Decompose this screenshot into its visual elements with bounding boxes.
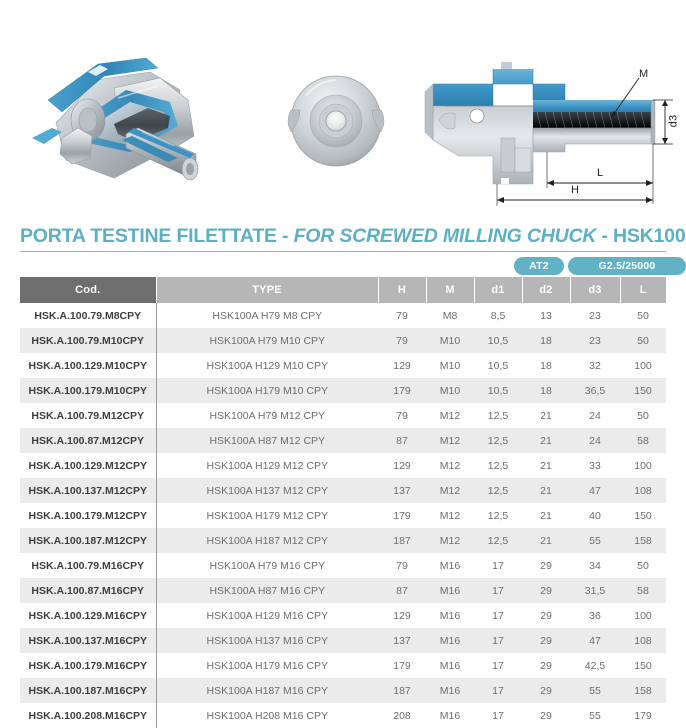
cell-d2: 29 <box>522 678 570 703</box>
cell-type: HSK100A H179 M10 CPY <box>156 378 378 403</box>
title-part-italian: PORTA TESTINE FILETTATE <box>20 225 277 247</box>
badge-at2: AT2 <box>514 257 564 275</box>
cell-d3: 42,5 <box>570 653 620 678</box>
cell-type: HSK100A H179 M16 CPY <box>156 653 378 678</box>
table-row[interactable]: HSK.A.100.79.M12CPYHSK100A H79 M12 CPY79… <box>20 403 666 428</box>
cell-d1: 17 <box>474 653 522 678</box>
cell-type: HSK100A H129 M16 CPY <box>156 603 378 628</box>
cell-d1: 10,5 <box>474 353 522 378</box>
cell-h: 129 <box>378 353 426 378</box>
cell-d2: 29 <box>522 628 570 653</box>
isometric-cutaway-drawing <box>18 28 248 213</box>
cell-d3: 40 <box>570 503 620 528</box>
cell-m: M16 <box>426 578 474 603</box>
cell-cod: HSK.A.100.179.M16CPY <box>20 653 156 678</box>
cell-type: HSK100A H87 M16 CPY <box>156 578 378 603</box>
cell-cod: HSK.A.100.208.M16CPY <box>20 703 156 728</box>
cell-m: M16 <box>426 653 474 678</box>
cell-cod: HSK.A.100.129.M12CPY <box>20 453 156 478</box>
cell-h: 179 <box>378 653 426 678</box>
cell-d2: 29 <box>522 578 570 603</box>
cell-d2: 29 <box>522 653 570 678</box>
table-row[interactable]: HSK.A.100.79.M16CPYHSK100A H79 M16 CPY79… <box>20 553 666 578</box>
table-row[interactable]: HSK.A.100.187.M16CPYHSK100A H187 M16 CPY… <box>20 678 666 703</box>
cell-d2: 21 <box>522 428 570 453</box>
cell-h: 79 <box>378 553 426 578</box>
cell-d1: 12,5 <box>474 528 522 553</box>
specification-table-wrapper: Cod. TYPE H M d1 d2 d3 L HSK.A.100.79.M8… <box>20 277 666 728</box>
cell-d1: 17 <box>474 603 522 628</box>
cell-d2: 21 <box>522 478 570 503</box>
cell-type: HSK100A H79 M8 CPY <box>156 303 378 328</box>
dimension-label-d3: d3 <box>667 115 679 128</box>
cell-type: HSK100A H137 M12 CPY <box>156 478 378 503</box>
cell-m: M12 <box>426 403 474 428</box>
cell-h: 179 <box>378 503 426 528</box>
table-row[interactable]: HSK.A.100.137.M16CPYHSK100A H137 M16 CPY… <box>20 628 666 653</box>
cell-cod: HSK.A.100.179.M12CPY <box>20 503 156 528</box>
cell-m: M10 <box>426 378 474 403</box>
cell-l: 179 <box>620 703 666 728</box>
cell-h: 137 <box>378 478 426 503</box>
cell-h: 79 <box>378 328 426 353</box>
cell-cod: HSK.A.100.79.M12CPY <box>20 403 156 428</box>
cell-d1: 17 <box>474 553 522 578</box>
cell-d3: 55 <box>570 528 620 553</box>
cell-cod: HSK.A.100.129.M16CPY <box>20 603 156 628</box>
cell-type: HSK100A H137 M16 CPY <box>156 628 378 653</box>
cell-h: 87 <box>378 578 426 603</box>
cell-d1: 17 <box>474 703 522 728</box>
column-header-d3: d3 <box>570 277 620 303</box>
cell-d1: 17 <box>474 578 522 603</box>
cell-l: 150 <box>620 653 666 678</box>
cell-d3: 55 <box>570 703 620 728</box>
column-header-type: TYPE <box>156 277 378 303</box>
cell-cod: HSK.A.100.187.M16CPY <box>20 678 156 703</box>
cell-d3: 47 <box>570 478 620 503</box>
spec-badges: AT2 G2.5/25000 <box>20 257 666 275</box>
cell-m: M12 <box>426 428 474 453</box>
column-header-h: H <box>378 277 426 303</box>
section-view-drawing: M d3 L H <box>415 28 686 218</box>
column-header-d1: d1 <box>474 277 522 303</box>
cell-type: HSK100A H129 M10 CPY <box>156 353 378 378</box>
cell-d1: 17 <box>474 628 522 653</box>
cell-d3: 36 <box>570 603 620 628</box>
cell-m: M16 <box>426 678 474 703</box>
cell-l: 158 <box>620 678 666 703</box>
table-row[interactable]: HSK.A.100.87.M16CPYHSK100A H87 M16 CPY87… <box>20 578 666 603</box>
cell-d1: 12,5 <box>474 453 522 478</box>
cell-cod: HSK.A.100.187.M12CPY <box>20 528 156 553</box>
cell-type: HSK100A H79 M10 CPY <box>156 328 378 353</box>
cell-d2: 21 <box>522 528 570 553</box>
cell-d2: 18 <box>522 378 570 403</box>
column-header-m: M <box>426 277 474 303</box>
cell-cod: HSK.A.100.87.M12CPY <box>20 428 156 453</box>
cell-cod: HSK.A.100.79.M16CPY <box>20 553 156 578</box>
table-body: HSK.A.100.79.M8CPYHSK100A H79 M8 CPY79M8… <box>20 303 666 728</box>
cell-l: 50 <box>620 303 666 328</box>
title-separator-1: - <box>277 225 294 247</box>
cell-m: M12 <box>426 453 474 478</box>
cell-d3: 24 <box>570 428 620 453</box>
cell-m: M16 <box>426 703 474 728</box>
cell-cod: HSK.A.100.137.M12CPY <box>20 478 156 503</box>
column-header-d2: d2 <box>522 277 570 303</box>
page-title: PORTA TESTINE FILETTATE - FOR SCREWED MI… <box>20 226 666 247</box>
cell-cod: HSK.A.100.87.M16CPY <box>20 578 156 603</box>
cell-d2: 29 <box>522 603 570 628</box>
cell-d2: 18 <box>522 353 570 378</box>
table-row[interactable]: HSK.A.100.79.M10CPYHSK100A H79 M10 CPY79… <box>20 328 666 353</box>
cell-d1: 17 <box>474 678 522 703</box>
cell-d3: 47 <box>570 628 620 653</box>
table-row[interactable]: HSK.A.100.87.M12CPYHSK100A H87 M12 CPY87… <box>20 428 666 453</box>
cell-m: M16 <box>426 628 474 653</box>
cell-d2: 13 <box>522 303 570 328</box>
section-title-block: PORTA TESTINE FILETTATE - FOR SCREWED MI… <box>20 226 666 252</box>
cell-d2: 21 <box>522 403 570 428</box>
cell-d1: 12,5 <box>474 503 522 528</box>
cell-l: 50 <box>620 328 666 353</box>
cell-h: 129 <box>378 603 426 628</box>
table-row[interactable]: HSK.A.100.208.M16CPYHSK100A H208 M16 CPY… <box>20 703 666 728</box>
cell-d1: 10,5 <box>474 378 522 403</box>
cell-h: 187 <box>378 528 426 553</box>
badge-balance-grade: G2.5/25000 <box>568 257 686 275</box>
column-header-l: L <box>620 277 666 303</box>
cell-d1: 12,5 <box>474 403 522 428</box>
cell-m: M10 <box>426 353 474 378</box>
cell-d2: 21 <box>522 453 570 478</box>
cell-d3: 32 <box>570 353 620 378</box>
cell-type: HSK100A H79 M16 CPY <box>156 553 378 578</box>
cell-d3: 33 <box>570 453 620 478</box>
cell-d3: 31,5 <box>570 578 620 603</box>
cell-d3: 23 <box>570 303 620 328</box>
cell-m: M10 <box>426 328 474 353</box>
cell-h: 129 <box>378 453 426 478</box>
table-row[interactable]: HSK.A.100.79.M8CPYHSK100A H79 M8 CPY79M8… <box>20 303 666 328</box>
cell-h: 79 <box>378 403 426 428</box>
dimension-label-m: M <box>639 68 648 80</box>
cell-l: 108 <box>620 628 666 653</box>
cell-d3: 24 <box>570 403 620 428</box>
cell-l: 150 <box>620 378 666 403</box>
cell-m: M12 <box>426 528 474 553</box>
table-row[interactable]: HSK.A.100.187.M12CPYHSK100A H187 M12 CPY… <box>20 528 666 553</box>
table-row[interactable]: HSK.A.100.137.M12CPYHSK100A H137 M12 CPY… <box>20 478 666 503</box>
cell-m: M16 <box>426 603 474 628</box>
cell-d2: 29 <box>522 553 570 578</box>
cell-cod: HSK.A.100.179.M10CPY <box>20 378 156 403</box>
cell-l: 100 <box>620 453 666 478</box>
cell-type: HSK100A H79 M12 CPY <box>156 403 378 428</box>
dimension-label-h: H <box>571 184 579 196</box>
title-part-model: HSK100A <box>613 225 686 247</box>
cell-d2: 29 <box>522 703 570 728</box>
table-row[interactable]: HSK.A.100.179.M12CPYHSK100A H179 M12 CPY… <box>20 503 666 528</box>
cell-d3: 36,5 <box>570 378 620 403</box>
cell-cod: HSK.A.100.79.M10CPY <box>20 328 156 353</box>
cell-d3: 23 <box>570 328 620 353</box>
cell-h: 87 <box>378 428 426 453</box>
table-row[interactable]: HSK.A.100.179.M16CPYHSK100A H179 M16 CPY… <box>20 653 666 678</box>
cell-m: M12 <box>426 478 474 503</box>
cell-cod: HSK.A.100.129.M10CPY <box>20 353 156 378</box>
cell-d1: 12,5 <box>474 428 522 453</box>
cell-l: 50 <box>620 403 666 428</box>
cell-h: 187 <box>378 678 426 703</box>
cell-l: 108 <box>620 478 666 503</box>
cell-l: 100 <box>620 603 666 628</box>
title-separator-2: - <box>596 225 613 247</box>
column-header-cod: Cod. <box>20 277 156 303</box>
cell-l: 158 <box>620 528 666 553</box>
cell-d1: 10,5 <box>474 328 522 353</box>
title-underline-rule <box>20 251 666 252</box>
cell-type: HSK100A H187 M16 CPY <box>156 678 378 703</box>
cell-h: 179 <box>378 378 426 403</box>
cell-d3: 34 <box>570 553 620 578</box>
cell-d2: 18 <box>522 328 570 353</box>
cell-l: 100 <box>620 353 666 378</box>
cell-m: M8 <box>426 303 474 328</box>
cell-h: 208 <box>378 703 426 728</box>
dimension-label-l: L <box>597 167 603 179</box>
cell-cod: HSK.A.100.79.M8CPY <box>20 303 156 328</box>
cell-l: 150 <box>620 503 666 528</box>
cell-m: M12 <box>426 503 474 528</box>
table-row[interactable]: HSK.A.100.129.M10CPYHSK100A H129 M10 CPY… <box>20 353 666 378</box>
cell-cod: HSK.A.100.137.M16CPY <box>20 628 156 653</box>
specification-table: Cod. TYPE H M d1 d2 d3 L HSK.A.100.79.M8… <box>20 277 666 728</box>
cell-type: HSK100A H87 M12 CPY <box>156 428 378 453</box>
cell-type: HSK100A H187 M12 CPY <box>156 528 378 553</box>
cell-d1: 8,5 <box>474 303 522 328</box>
cell-type: HSK100A H129 M12 CPY <box>156 453 378 478</box>
cell-m: M16 <box>426 553 474 578</box>
cell-type: HSK100A H208 M16 CPY <box>156 703 378 728</box>
table-row[interactable]: HSK.A.100.129.M12CPYHSK100A H129 M12 CPY… <box>20 453 666 478</box>
front-view-drawing <box>272 58 400 184</box>
table-row[interactable]: HSK.A.100.129.M16CPYHSK100A H129 M16 CPY… <box>20 603 666 628</box>
cell-h: 79 <box>378 303 426 328</box>
cell-d1: 12,5 <box>474 478 522 503</box>
cell-l: 58 <box>620 578 666 603</box>
cell-type: HSK100A H179 M12 CPY <box>156 503 378 528</box>
title-part-english: FOR SCREWED MILLING CHUCK <box>294 225 597 247</box>
table-row[interactable]: HSK.A.100.179.M10CPYHSK100A H179 M10 CPY… <box>20 378 666 403</box>
product-drawings: M d3 L H <box>0 0 686 218</box>
cell-d2: 21 <box>522 503 570 528</box>
cell-d3: 55 <box>570 678 620 703</box>
cell-h: 137 <box>378 628 426 653</box>
table-header-row: Cod. TYPE H M d1 d2 d3 L <box>20 277 666 303</box>
cell-l: 58 <box>620 428 666 453</box>
cell-l: 50 <box>620 553 666 578</box>
